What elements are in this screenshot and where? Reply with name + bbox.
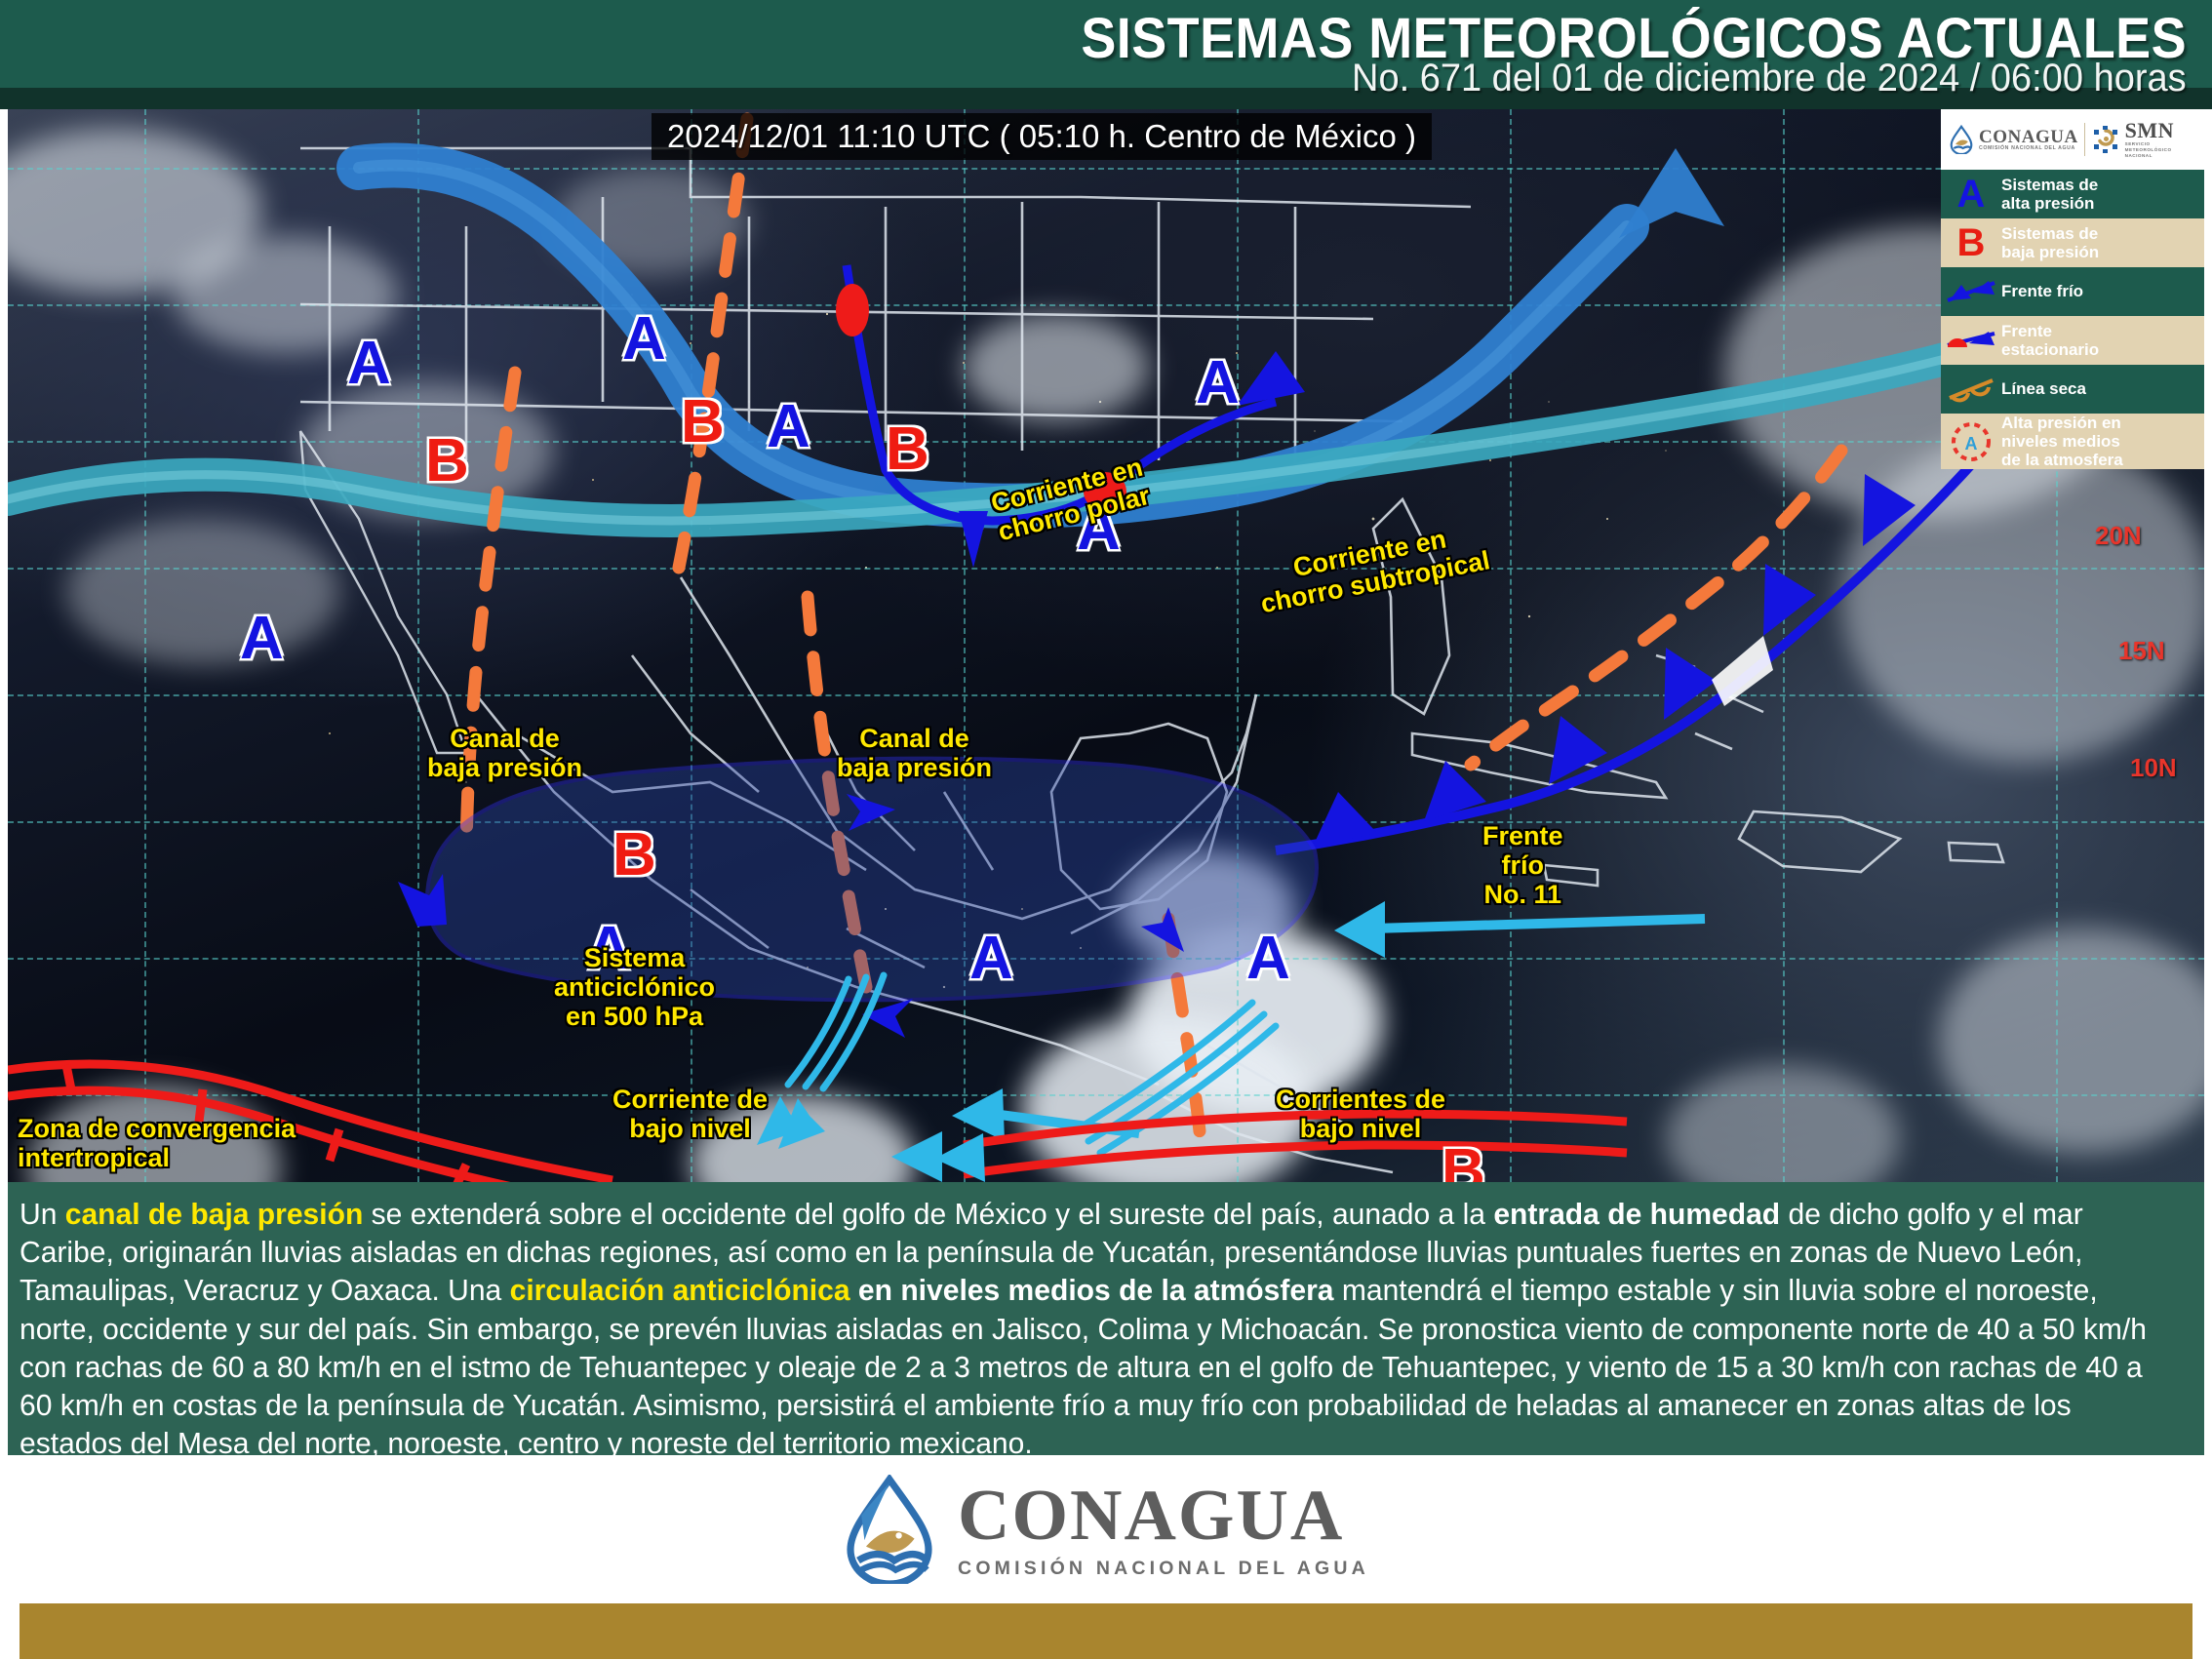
footer-conagua-subtitle: COMISIÓN NACIONAL DEL AGUA [958, 1560, 1369, 1579]
high-pressure-marker-ne: A [1196, 353, 1240, 414]
footer-band-right-cap [2192, 1603, 2212, 1659]
high-pressure-marker-w: A [240, 609, 284, 669]
cloud-cover-layer [8, 109, 2204, 1182]
legend-label-mid-level-high: Alta presión en niveles medios de la atm… [2001, 414, 2129, 469]
dry-line-icon [1941, 375, 2001, 404]
legend-item-low-pressure[interactable]: B Sistemas de baja presión [1941, 218, 2204, 267]
high-pressure-marker-nw: A [347, 334, 391, 394]
lat-lon-grid: 40N 35N 25N 20N 15N 10N [8, 109, 2204, 1182]
footer-gold-band [0, 1603, 2212, 1659]
label-itcz: Zona de convergencia intertropical [18, 1114, 296, 1172]
label-low-level-west: Corriente de bajo nivel [612, 1085, 768, 1143]
footer-band-left-cap [0, 1603, 20, 1659]
smn-subtitle: SERVICIO METEOROLÓGICO NACIONAL [2125, 141, 2174, 158]
conagua-subtitle: COMISIÓN NACIONAL DEL AGUA [1979, 146, 2078, 151]
low-pressure-marker-west: B [612, 825, 656, 886]
letter-b-low-pressure-icon: B [1941, 221, 2001, 265]
smn-spiral-icon [2091, 125, 2120, 154]
label-low-level-east: Corrientes de bajo nivel [1276, 1085, 1445, 1143]
map-timestamp: 2024/12/01 11:10 UTC ( 05:10 h. Centro d… [652, 113, 1432, 160]
conagua-water-drop-icon-large [843, 1475, 936, 1584]
legend-label-stationary-front: Frente estacionario [2001, 322, 2105, 359]
map-legend: A Sistemas de alta presión B Sistemas de… [1941, 170, 2204, 469]
legend-label-low-pressure: Sistemas de baja presión [2001, 224, 2105, 261]
low-pressure-marker-caribbean: B [1442, 1141, 1485, 1182]
lat-label-20n: 20N [2095, 521, 2142, 551]
low-pressure-marker-pacific: B [425, 431, 469, 492]
high-pressure-marker-caribbean: A [1246, 928, 1290, 989]
low-pressure-marker-plains: B [886, 419, 929, 480]
svg-text:A: A [1965, 434, 1978, 454]
high-pressure-marker-n: A [622, 309, 666, 370]
label-trough-west: Canal de baja presión [427, 724, 582, 782]
footer-conagua-name: CONAGUA [958, 1480, 1369, 1552]
bulletin-number-date: No. 671 del 01 de diciembre de 2024 / 06… [1352, 57, 2187, 100]
legend-label-cold-front: Frente frío [2001, 282, 2089, 300]
label-jet-subtropical: Corriente en chorro subtropical [1252, 517, 1492, 619]
mid-level-high-icon: A [1941, 420, 2001, 463]
label-trough-east: Canal de baja presión [837, 724, 992, 782]
high-pressure-marker-yucatan: A [969, 928, 1013, 989]
lat-label-15n: 15N [2118, 636, 2165, 666]
label-anticyclone-500: Sistema anticiclónico en 500 hPa [554, 943, 715, 1032]
map-logo-bar: CONAGUA COMISIÓN NACIONAL DEL AGUA SMN [1941, 109, 2204, 170]
lat-label-10n: 10N [2130, 753, 2177, 783]
smn-logo-small: SMN SERVICIO METEOROLÓGICO NACIONAL [2091, 120, 2174, 158]
legend-item-stationary-front[interactable]: Frente estacionario [1941, 316, 2204, 365]
forecast-text-panel: Un canal de baja presión se extenderá so… [8, 1182, 2204, 1455]
legend-item-mid-level-high[interactable]: A Alta presión en niveles medios de la a… [1941, 414, 2204, 469]
stationary-front-icon [1941, 326, 2001, 355]
conagua-water-drop-icon [1949, 125, 1974, 154]
legend-label-dry-line: Línea seca [2001, 379, 2092, 398]
forecast-paragraph: Un canal de baja presión se extenderá so… [20, 1196, 2160, 1463]
high-pressure-marker-nc: A [767, 397, 810, 457]
low-pressure-marker-nc: B [681, 392, 725, 453]
legend-item-dry-line[interactable]: Línea seca [1941, 365, 2204, 414]
conagua-name: CONAGUA [1979, 128, 2078, 146]
city-lights-texture [8, 109, 2204, 1182]
legend-item-high-pressure[interactable]: A Sistemas de alta presión [1941, 170, 2204, 218]
conagua-logo-small: CONAGUA COMISIÓN NACIONAL DEL AGUA [1949, 125, 2078, 154]
label-cold-front-11: Frente frío No. 11 [1482, 821, 1563, 910]
conagua-logo-large: CONAGUA COMISIÓN NACIONAL DEL AGUA [843, 1475, 1369, 1584]
cold-front-icon [1941, 277, 2001, 306]
label-jet-polar: Corriente en chorro polar [988, 453, 1153, 547]
weather-bulletin-page: SISTEMAS METEOROLÓGICOS ACTUALES No. 671… [0, 0, 2212, 1659]
legend-item-cold-front[interactable]: Frente frío [1941, 267, 2204, 316]
footer-logo-bar: CONAGUA COMISIÓN NACIONAL DEL AGUA [0, 1455, 2212, 1603]
letter-a-high-pressure-icon: A [1941, 173, 2001, 217]
satellite-weather-map[interactable]: 40N 35N 25N 20N 15N 10N [8, 109, 2204, 1182]
logo-divider [2084, 123, 2085, 156]
legend-label-high-pressure: Sistemas de alta presión [2001, 176, 2104, 213]
smn-name: SMN [2125, 120, 2174, 141]
map-vector-overlay [8, 109, 2204, 1182]
